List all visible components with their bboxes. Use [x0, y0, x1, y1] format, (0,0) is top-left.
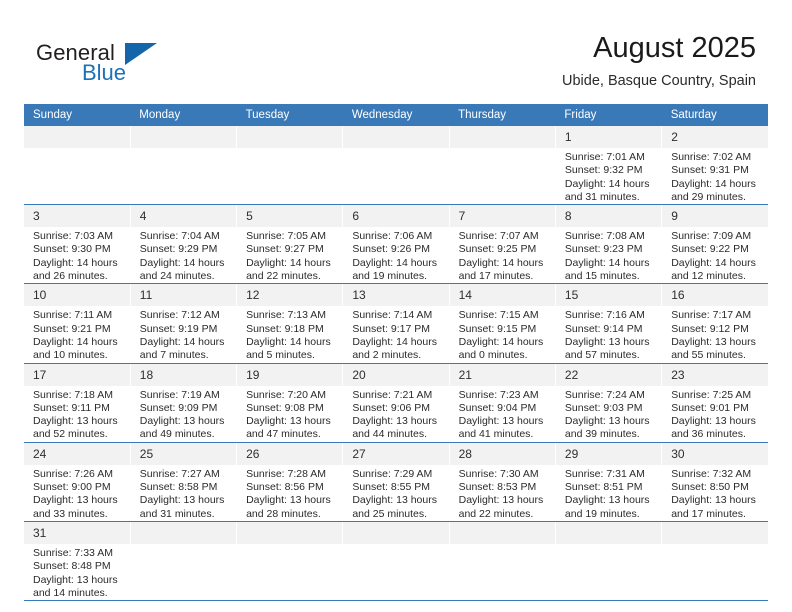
- title-block: August 2025 Ubide, Basque Country, Spain: [562, 30, 756, 91]
- day-number: 4: [131, 205, 236, 227]
- calendar-day-cell-empty: [130, 126, 236, 205]
- calendar-day-cell[interactable]: 17Sunrise: 7:18 AMSunset: 9:11 PMDayligh…: [24, 363, 130, 442]
- calendar-day-cell[interactable]: 10Sunrise: 7:11 AMSunset: 9:21 PMDayligh…: [24, 284, 130, 363]
- daylight-text-line1: Daylight: 14 hours: [140, 257, 231, 270]
- daylight-text-line2: and 29 minutes.: [671, 191, 763, 204]
- daylight-text-line1: Daylight: 13 hours: [33, 574, 125, 587]
- day-details: Sunrise: 7:01 AMSunset: 9:32 PMDaylight:…: [556, 148, 661, 204]
- sunrise-text: Sunrise: 7:28 AM: [246, 468, 337, 481]
- sunset-text: Sunset: 9:30 PM: [33, 243, 125, 256]
- sunset-text: Sunset: 9:12 PM: [671, 323, 763, 336]
- sunset-text: Sunset: 9:19 PM: [140, 323, 231, 336]
- sunset-text: Sunset: 9:00 PM: [33, 481, 125, 494]
- daylight-text-line2: and 2 minutes.: [352, 349, 443, 362]
- day-details: [556, 544, 661, 547]
- daylight-text-line2: and 17 minutes.: [459, 270, 550, 283]
- general-blue-logo[interactable]: General Blue: [36, 40, 186, 88]
- daylight-text-line2: and 57 minutes.: [565, 349, 656, 362]
- day-number: 3: [24, 205, 130, 227]
- sunrise-text: Sunrise: 7:21 AM: [352, 389, 443, 402]
- day-details: [450, 148, 555, 151]
- day-number: 20: [343, 364, 448, 386]
- day-details: Sunrise: 7:16 AMSunset: 9:14 PMDaylight:…: [556, 306, 661, 362]
- daylight-text-line1: Daylight: 13 hours: [565, 415, 656, 428]
- day-details: Sunrise: 7:08 AMSunset: 9:23 PMDaylight:…: [556, 227, 661, 283]
- day-cell-inner: 13Sunrise: 7:14 AMSunset: 9:17 PMDayligh…: [343, 284, 448, 362]
- day-number: 8: [556, 205, 661, 227]
- day-details: [131, 544, 236, 547]
- daylight-text-line2: and 0 minutes.: [459, 349, 550, 362]
- day-number: 16: [662, 284, 768, 306]
- page-header: General Blue August 2025 Ubide, Basque C…: [0, 0, 792, 104]
- calendar-page: General Blue August 2025 Ubide, Basque C…: [0, 0, 792, 612]
- day-number: [343, 522, 448, 544]
- daylight-text-line2: and 19 minutes.: [352, 270, 443, 283]
- day-cell-inner: 3Sunrise: 7:03 AMSunset: 9:30 PMDaylight…: [24, 205, 130, 283]
- sunset-text: Sunset: 9:08 PM: [246, 402, 337, 415]
- daylight-text-line1: Daylight: 13 hours: [565, 336, 656, 349]
- day-cell-inner: 19Sunrise: 7:20 AMSunset: 9:08 PMDayligh…: [237, 364, 342, 442]
- daylight-text-line2: and 31 minutes.: [140, 508, 231, 521]
- daylight-text-line2: and 52 minutes.: [33, 428, 125, 441]
- daylight-text-line2: and 28 minutes.: [246, 508, 337, 521]
- day-number: 12: [237, 284, 342, 306]
- calendar-day-cell-empty: [343, 126, 449, 205]
- daylight-text-line1: Daylight: 13 hours: [352, 415, 443, 428]
- day-cell-inner: [237, 126, 342, 204]
- day-number: 2: [662, 126, 768, 148]
- weekday-header-thursday: Thursday: [449, 104, 555, 126]
- day-cell-inner: 31Sunrise: 7:33 AMSunset: 8:48 PMDayligh…: [24, 522, 130, 600]
- calendar-day-cell[interactable]: 11Sunrise: 7:12 AMSunset: 9:19 PMDayligh…: [130, 284, 236, 363]
- calendar-day-cell[interactable]: 8Sunrise: 7:08 AMSunset: 9:23 PMDaylight…: [555, 205, 661, 284]
- daylight-text-line2: and 41 minutes.: [459, 428, 550, 441]
- calendar-day-cell[interactable]: 20Sunrise: 7:21 AMSunset: 9:06 PMDayligh…: [343, 363, 449, 442]
- daylight-text-line2: and 55 minutes.: [671, 349, 763, 362]
- day-details: [343, 148, 448, 151]
- day-number: 11: [131, 284, 236, 306]
- sunset-text: Sunset: 9:11 PM: [33, 402, 125, 415]
- day-details: [343, 544, 448, 547]
- calendar-day-cell[interactable]: 18Sunrise: 7:19 AMSunset: 9:09 PMDayligh…: [130, 363, 236, 442]
- weekday-header-tuesday: Tuesday: [237, 104, 343, 126]
- weekday-header-sunday: Sunday: [24, 104, 130, 126]
- day-number: 27: [343, 443, 448, 465]
- calendar-day-cell[interactable]: 7Sunrise: 7:07 AMSunset: 9:25 PMDaylight…: [449, 205, 555, 284]
- daylight-text-line2: and 31 minutes.: [565, 191, 656, 204]
- sunrise-text: Sunrise: 7:09 AM: [671, 230, 763, 243]
- calendar-day-cell[interactable]: 2Sunrise: 7:02 AMSunset: 9:31 PMDaylight…: [662, 126, 768, 205]
- sunset-text: Sunset: 9:17 PM: [352, 323, 443, 336]
- day-cell-inner: [556, 522, 661, 600]
- calendar-day-cell[interactable]: 25Sunrise: 7:27 AMSunset: 8:58 PMDayligh…: [130, 442, 236, 521]
- day-cell-inner: 2Sunrise: 7:02 AMSunset: 9:31 PMDaylight…: [662, 126, 768, 204]
- day-cell-inner: [237, 522, 342, 600]
- day-details: [450, 544, 555, 547]
- day-cell-inner: 17Sunrise: 7:18 AMSunset: 9:11 PMDayligh…: [24, 364, 130, 442]
- daylight-text-line1: Daylight: 13 hours: [459, 494, 550, 507]
- sunrise-text: Sunrise: 7:02 AM: [671, 151, 763, 164]
- daylight-text-line1: Daylight: 13 hours: [671, 415, 763, 428]
- day-cell-inner: 9Sunrise: 7:09 AMSunset: 9:22 PMDaylight…: [662, 205, 768, 283]
- day-cell-inner: 12Sunrise: 7:13 AMSunset: 9:18 PMDayligh…: [237, 284, 342, 362]
- daylight-text-line1: Daylight: 14 hours: [565, 257, 656, 270]
- day-cell-inner: 24Sunrise: 7:26 AMSunset: 9:00 PMDayligh…: [24, 443, 130, 521]
- day-cell-inner: 18Sunrise: 7:19 AMSunset: 9:09 PMDayligh…: [131, 364, 236, 442]
- day-number: 15: [556, 284, 661, 306]
- day-cell-inner: 15Sunrise: 7:16 AMSunset: 9:14 PMDayligh…: [556, 284, 661, 362]
- sunrise-text: Sunrise: 7:20 AM: [246, 389, 337, 402]
- calendar-day-cell[interactable]: 6Sunrise: 7:06 AMSunset: 9:26 PMDaylight…: [343, 205, 449, 284]
- day-details: Sunrise: 7:26 AMSunset: 9:00 PMDaylight:…: [24, 465, 130, 521]
- day-number: [343, 126, 448, 148]
- calendar-day-cell[interactable]: 14Sunrise: 7:15 AMSunset: 9:15 PMDayligh…: [449, 284, 555, 363]
- day-details: Sunrise: 7:18 AMSunset: 9:11 PMDaylight:…: [24, 386, 130, 442]
- day-details: Sunrise: 7:09 AMSunset: 9:22 PMDaylight:…: [662, 227, 768, 283]
- daylight-text-line1: Daylight: 13 hours: [671, 336, 763, 349]
- day-cell-inner: [24, 126, 130, 204]
- day-number: 18: [131, 364, 236, 386]
- day-number: 24: [24, 443, 130, 465]
- day-cell-inner: [131, 126, 236, 204]
- daylight-text-line2: and 14 minutes.: [33, 587, 125, 600]
- sunset-text: Sunset: 9:18 PM: [246, 323, 337, 336]
- sunset-text: Sunset: 8:55 PM: [352, 481, 443, 494]
- calendar-day-cell[interactable]: 3Sunrise: 7:03 AMSunset: 9:30 PMDaylight…: [24, 205, 130, 284]
- sunset-text: Sunset: 9:21 PM: [33, 323, 125, 336]
- daylight-text-line2: and 26 minutes.: [33, 270, 125, 283]
- daylight-text-line2: and 7 minutes.: [140, 349, 231, 362]
- day-number: 30: [662, 443, 768, 465]
- calendar-day-cell-empty: [662, 521, 768, 600]
- daylight-text-line1: Daylight: 13 hours: [565, 494, 656, 507]
- calendar-week-row: 3Sunrise: 7:03 AMSunset: 9:30 PMDaylight…: [24, 205, 768, 284]
- day-details: [24, 148, 130, 151]
- day-number: 13: [343, 284, 448, 306]
- daylight-text-line2: and 49 minutes.: [140, 428, 231, 441]
- day-details: Sunrise: 7:29 AMSunset: 8:55 PMDaylight:…: [343, 465, 448, 521]
- day-number: 5: [237, 205, 342, 227]
- calendar-day-cell[interactable]: 12Sunrise: 7:13 AMSunset: 9:18 PMDayligh…: [237, 284, 343, 363]
- sunrise-text: Sunrise: 7:08 AM: [565, 230, 656, 243]
- calendar-day-cell-empty: [237, 126, 343, 205]
- daylight-text-line2: and 22 minutes.: [459, 508, 550, 521]
- day-details: Sunrise: 7:21 AMSunset: 9:06 PMDaylight:…: [343, 386, 448, 442]
- calendar-day-cell[interactable]: 24Sunrise: 7:26 AMSunset: 9:00 PMDayligh…: [24, 442, 130, 521]
- calendar-day-cell[interactable]: 22Sunrise: 7:24 AMSunset: 9:03 PMDayligh…: [555, 363, 661, 442]
- daylight-text-line1: Daylight: 14 hours: [352, 257, 443, 270]
- calendar-day-cell-empty: [24, 126, 130, 205]
- daylight-text-line1: Daylight: 14 hours: [33, 336, 125, 349]
- sunrise-text: Sunrise: 7:29 AM: [352, 468, 443, 481]
- day-details: Sunrise: 7:03 AMSunset: 9:30 PMDaylight:…: [24, 227, 130, 283]
- daylight-text-line1: Daylight: 13 hours: [33, 494, 125, 507]
- daylight-text-line1: Daylight: 14 hours: [565, 178, 656, 191]
- daylight-text-line1: Daylight: 13 hours: [33, 415, 125, 428]
- day-number: [131, 126, 236, 148]
- calendar-day-cell[interactable]: 27Sunrise: 7:29 AMSunset: 8:55 PMDayligh…: [343, 442, 449, 521]
- day-number: [131, 522, 236, 544]
- day-number: 7: [450, 205, 555, 227]
- sunset-text: Sunset: 9:32 PM: [565, 164, 656, 177]
- sunset-text: Sunset: 9:31 PM: [671, 164, 763, 177]
- day-details: Sunrise: 7:02 AMSunset: 9:31 PMDaylight:…: [662, 148, 768, 204]
- day-details: Sunrise: 7:13 AMSunset: 9:18 PMDaylight:…: [237, 306, 342, 362]
- day-number: 23: [662, 364, 768, 386]
- day-cell-inner: 20Sunrise: 7:21 AMSunset: 9:06 PMDayligh…: [343, 364, 448, 442]
- daylight-text-line1: Daylight: 13 hours: [246, 415, 337, 428]
- daylight-text-line2: and 24 minutes.: [140, 270, 231, 283]
- day-details: Sunrise: 7:25 AMSunset: 9:01 PMDaylight:…: [662, 386, 768, 442]
- sunset-text: Sunset: 9:23 PM: [565, 243, 656, 256]
- daylight-text-line2: and 15 minutes.: [565, 270, 656, 283]
- daylight-text-line2: and 12 minutes.: [671, 270, 763, 283]
- daylight-text-line1: Daylight: 14 hours: [671, 257, 763, 270]
- sunrise-text: Sunrise: 7:26 AM: [33, 468, 125, 481]
- calendar-day-cell-empty: [555, 521, 661, 600]
- day-cell-inner: 27Sunrise: 7:29 AMSunset: 8:55 PMDayligh…: [343, 443, 448, 521]
- calendar-day-cell[interactable]: 21Sunrise: 7:23 AMSunset: 9:04 PMDayligh…: [449, 363, 555, 442]
- sunset-text: Sunset: 8:51 PM: [565, 481, 656, 494]
- calendar-day-cell[interactable]: 13Sunrise: 7:14 AMSunset: 9:17 PMDayligh…: [343, 284, 449, 363]
- sunset-text: Sunset: 8:48 PM: [33, 560, 125, 573]
- sunset-text: Sunset: 9:06 PM: [352, 402, 443, 415]
- daylight-text-line2: and 47 minutes.: [246, 428, 337, 441]
- sunrise-text: Sunrise: 7:11 AM: [33, 309, 125, 322]
- daylight-text-line2: and 25 minutes.: [352, 508, 443, 521]
- sunrise-text: Sunrise: 7:25 AM: [671, 389, 763, 402]
- day-number: 28: [450, 443, 555, 465]
- weekday-header-friday: Friday: [555, 104, 661, 126]
- daylight-text-line1: Daylight: 14 hours: [246, 336, 337, 349]
- daylight-text-line2: and 17 minutes.: [671, 508, 763, 521]
- calendar-day-cell-empty: [237, 521, 343, 600]
- sunrise-text: Sunrise: 7:12 AM: [140, 309, 231, 322]
- day-cell-inner: [450, 522, 555, 600]
- sunrise-text: Sunrise: 7:16 AM: [565, 309, 656, 322]
- weekday-header-row: Sunday Monday Tuesday Wednesday Thursday…: [24, 104, 768, 126]
- day-cell-inner: [131, 522, 236, 600]
- daylight-text-line1: Daylight: 13 hours: [140, 494, 231, 507]
- day-details: Sunrise: 7:20 AMSunset: 9:08 PMDaylight:…: [237, 386, 342, 442]
- day-number: 9: [662, 205, 768, 227]
- sunset-text: Sunset: 9:01 PM: [671, 402, 763, 415]
- day-details: Sunrise: 7:06 AMSunset: 9:26 PMDaylight:…: [343, 227, 448, 283]
- day-number: [450, 522, 555, 544]
- sunrise-text: Sunrise: 7:18 AM: [33, 389, 125, 402]
- day-number: 17: [24, 364, 130, 386]
- calendar-day-cell-empty: [449, 126, 555, 205]
- day-details: [662, 544, 768, 547]
- calendar-day-cell[interactable]: 23Sunrise: 7:25 AMSunset: 9:01 PMDayligh…: [662, 363, 768, 442]
- daylight-text-line2: and 36 minutes.: [671, 428, 763, 441]
- sunrise-text: Sunrise: 7:01 AM: [565, 151, 656, 164]
- sunrise-text: Sunrise: 7:27 AM: [140, 468, 231, 481]
- day-details: Sunrise: 7:17 AMSunset: 9:12 PMDaylight:…: [662, 306, 768, 362]
- day-details: Sunrise: 7:05 AMSunset: 9:27 PMDaylight:…: [237, 227, 342, 283]
- daylight-text-line1: Daylight: 14 hours: [33, 257, 125, 270]
- day-number: 22: [556, 364, 661, 386]
- day-cell-inner: [343, 126, 448, 204]
- calendar-day-cell[interactable]: 15Sunrise: 7:16 AMSunset: 9:14 PMDayligh…: [555, 284, 661, 363]
- calendar-day-cell[interactable]: 5Sunrise: 7:05 AMSunset: 9:27 PMDaylight…: [237, 205, 343, 284]
- day-number: [237, 522, 342, 544]
- calendar-day-cell[interactable]: 28Sunrise: 7:30 AMSunset: 8:53 PMDayligh…: [449, 442, 555, 521]
- day-details: Sunrise: 7:32 AMSunset: 8:50 PMDaylight:…: [662, 465, 768, 521]
- sunrise-text: Sunrise: 7:30 AM: [459, 468, 550, 481]
- day-cell-inner: 10Sunrise: 7:11 AMSunset: 9:21 PMDayligh…: [24, 284, 130, 362]
- day-details: Sunrise: 7:28 AMSunset: 8:56 PMDaylight:…: [237, 465, 342, 521]
- sunset-text: Sunset: 8:53 PM: [459, 481, 550, 494]
- daylight-text-line1: Daylight: 14 hours: [352, 336, 443, 349]
- sunrise-text: Sunrise: 7:14 AM: [352, 309, 443, 322]
- day-number: 6: [343, 205, 448, 227]
- day-number: 25: [131, 443, 236, 465]
- sunrise-text: Sunrise: 7:07 AM: [459, 230, 550, 243]
- day-cell-inner: 28Sunrise: 7:30 AMSunset: 8:53 PMDayligh…: [450, 443, 555, 521]
- calendar-week-row: 17Sunrise: 7:18 AMSunset: 9:11 PMDayligh…: [24, 363, 768, 442]
- day-cell-inner: 6Sunrise: 7:06 AMSunset: 9:26 PMDaylight…: [343, 205, 448, 283]
- calendar-day-cell-empty: [130, 521, 236, 600]
- sunset-text: Sunset: 9:25 PM: [459, 243, 550, 256]
- day-number: [237, 126, 342, 148]
- sunrise-text: Sunrise: 7:33 AM: [33, 547, 125, 560]
- sunrise-text: Sunrise: 7:17 AM: [671, 309, 763, 322]
- day-cell-inner: 22Sunrise: 7:24 AMSunset: 9:03 PMDayligh…: [556, 364, 661, 442]
- calendar-day-cell[interactable]: 19Sunrise: 7:20 AMSunset: 9:08 PMDayligh…: [237, 363, 343, 442]
- sunrise-text: Sunrise: 7:06 AM: [352, 230, 443, 243]
- sunset-text: Sunset: 9:03 PM: [565, 402, 656, 415]
- sunrise-text: Sunrise: 7:31 AM: [565, 468, 656, 481]
- sunset-text: Sunset: 9:27 PM: [246, 243, 337, 256]
- weekday-header-monday: Monday: [130, 104, 236, 126]
- page-title: August 2025: [562, 30, 756, 66]
- day-number: 26: [237, 443, 342, 465]
- daylight-text-line2: and 19 minutes.: [565, 508, 656, 521]
- logo-text-blue: Blue: [82, 60, 126, 86]
- day-details: Sunrise: 7:04 AMSunset: 9:29 PMDaylight:…: [131, 227, 236, 283]
- daylight-text-line1: Daylight: 14 hours: [459, 336, 550, 349]
- location-subtitle: Ubide, Basque Country, Spain: [562, 72, 756, 91]
- day-cell-inner: 5Sunrise: 7:05 AMSunset: 9:27 PMDaylight…: [237, 205, 342, 283]
- calendar-day-cell[interactable]: 30Sunrise: 7:32 AMSunset: 8:50 PMDayligh…: [662, 442, 768, 521]
- sunset-text: Sunset: 9:14 PM: [565, 323, 656, 336]
- daylight-text-line1: Daylight: 13 hours: [671, 494, 763, 507]
- daylight-text-line2: and 39 minutes.: [565, 428, 656, 441]
- daylight-text-line2: and 44 minutes.: [352, 428, 443, 441]
- day-cell-inner: 1Sunrise: 7:01 AMSunset: 9:32 PMDaylight…: [556, 126, 661, 204]
- daylight-text-line2: and 5 minutes.: [246, 349, 337, 362]
- calendar-day-cell[interactable]: 4Sunrise: 7:04 AMSunset: 9:29 PMDaylight…: [130, 205, 236, 284]
- day-cell-inner: 23Sunrise: 7:25 AMSunset: 9:01 PMDayligh…: [662, 364, 768, 442]
- calendar-week-row: 24Sunrise: 7:26 AMSunset: 9:00 PMDayligh…: [24, 442, 768, 521]
- day-details: Sunrise: 7:30 AMSunset: 8:53 PMDaylight:…: [450, 465, 555, 521]
- daylight-text-line2: and 22 minutes.: [246, 270, 337, 283]
- calendar-day-cell[interactable]: 29Sunrise: 7:31 AMSunset: 8:51 PMDayligh…: [555, 442, 661, 521]
- sunset-text: Sunset: 9:15 PM: [459, 323, 550, 336]
- sunrise-text: Sunrise: 7:13 AM: [246, 309, 337, 322]
- daylight-text-line1: Daylight: 14 hours: [140, 336, 231, 349]
- day-details: Sunrise: 7:15 AMSunset: 9:15 PMDaylight:…: [450, 306, 555, 362]
- calendar-day-cell[interactable]: 26Sunrise: 7:28 AMSunset: 8:56 PMDayligh…: [237, 442, 343, 521]
- day-details: [237, 148, 342, 151]
- daylight-text-line1: Daylight: 14 hours: [671, 178, 763, 191]
- calendar-day-cell[interactable]: 1Sunrise: 7:01 AMSunset: 9:32 PMDaylight…: [555, 126, 661, 205]
- sunset-text: Sunset: 8:58 PM: [140, 481, 231, 494]
- day-cell-inner: 16Sunrise: 7:17 AMSunset: 9:12 PMDayligh…: [662, 284, 768, 362]
- triangle-logo-icon: [125, 43, 157, 65]
- daylight-text-line1: Daylight: 13 hours: [140, 415, 231, 428]
- day-cell-inner: 8Sunrise: 7:08 AMSunset: 9:23 PMDaylight…: [556, 205, 661, 283]
- day-number: [450, 126, 555, 148]
- day-details: Sunrise: 7:33 AMSunset: 8:48 PMDaylight:…: [24, 544, 130, 600]
- day-number: 31: [24, 522, 130, 544]
- day-details: Sunrise: 7:11 AMSunset: 9:21 PMDaylight:…: [24, 306, 130, 362]
- day-number: 29: [556, 443, 661, 465]
- day-details: Sunrise: 7:31 AMSunset: 8:51 PMDaylight:…: [556, 465, 661, 521]
- day-cell-inner: 26Sunrise: 7:28 AMSunset: 8:56 PMDayligh…: [237, 443, 342, 521]
- sunrise-text: Sunrise: 7:19 AM: [140, 389, 231, 402]
- day-details: Sunrise: 7:19 AMSunset: 9:09 PMDaylight:…: [131, 386, 236, 442]
- day-number: 21: [450, 364, 555, 386]
- sunrise-text: Sunrise: 7:15 AM: [459, 309, 550, 322]
- day-number: 10: [24, 284, 130, 306]
- sunrise-text: Sunrise: 7:03 AM: [33, 230, 125, 243]
- day-cell-inner: 30Sunrise: 7:32 AMSunset: 8:50 PMDayligh…: [662, 443, 768, 521]
- calendar-day-cell[interactable]: 31Sunrise: 7:33 AMSunset: 8:48 PMDayligh…: [24, 521, 130, 600]
- day-cell-inner: 25Sunrise: 7:27 AMSunset: 8:58 PMDayligh…: [131, 443, 236, 521]
- day-cell-inner: 14Sunrise: 7:15 AMSunset: 9:15 PMDayligh…: [450, 284, 555, 362]
- day-details: Sunrise: 7:12 AMSunset: 9:19 PMDaylight:…: [131, 306, 236, 362]
- sunrise-text: Sunrise: 7:24 AM: [565, 389, 656, 402]
- calendar-day-cell[interactable]: 16Sunrise: 7:17 AMSunset: 9:12 PMDayligh…: [662, 284, 768, 363]
- sunset-text: Sunset: 9:09 PM: [140, 402, 231, 415]
- calendar-week-row: 31Sunrise: 7:33 AMSunset: 8:48 PMDayligh…: [24, 521, 768, 600]
- daylight-text-line1: Daylight: 14 hours: [246, 257, 337, 270]
- daylight-text-line1: Daylight: 13 hours: [246, 494, 337, 507]
- sunset-text: Sunset: 8:50 PM: [671, 481, 763, 494]
- sunrise-sunset-calendar-table: Sunday Monday Tuesday Wednesday Thursday…: [24, 104, 768, 601]
- daylight-text-line1: Daylight: 14 hours: [459, 257, 550, 270]
- daylight-text-line1: Daylight: 13 hours: [352, 494, 443, 507]
- sunset-text: Sunset: 9:22 PM: [671, 243, 763, 256]
- day-number: [24, 126, 130, 148]
- sunset-text: Sunset: 9:26 PM: [352, 243, 443, 256]
- day-details: [131, 148, 236, 151]
- sunset-text: Sunset: 9:29 PM: [140, 243, 231, 256]
- day-cell-inner: [450, 126, 555, 204]
- calendar-day-cell-empty: [449, 521, 555, 600]
- calendar-day-cell-empty: [343, 521, 449, 600]
- sunset-text: Sunset: 8:56 PM: [246, 481, 337, 494]
- day-details: [237, 544, 342, 547]
- day-cell-inner: [343, 522, 448, 600]
- day-cell-inner: [662, 522, 768, 600]
- weekday-header-saturday: Saturday: [662, 104, 768, 126]
- day-cell-inner: 7Sunrise: 7:07 AMSunset: 9:25 PMDaylight…: [450, 205, 555, 283]
- day-cell-inner: 11Sunrise: 7:12 AMSunset: 9:19 PMDayligh…: [131, 284, 236, 362]
- day-details: Sunrise: 7:24 AMSunset: 9:03 PMDaylight:…: [556, 386, 661, 442]
- calendar-day-cell[interactable]: 9Sunrise: 7:09 AMSunset: 9:22 PMDaylight…: [662, 205, 768, 284]
- day-number: 1: [556, 126, 661, 148]
- daylight-text-line2: and 33 minutes.: [33, 508, 125, 521]
- day-cell-inner: 29Sunrise: 7:31 AMSunset: 8:51 PMDayligh…: [556, 443, 661, 521]
- daylight-text-line1: Daylight: 13 hours: [459, 415, 550, 428]
- day-number: [556, 522, 661, 544]
- day-number: 19: [237, 364, 342, 386]
- day-number: 14: [450, 284, 555, 306]
- sunrise-text: Sunrise: 7:04 AM: [140, 230, 231, 243]
